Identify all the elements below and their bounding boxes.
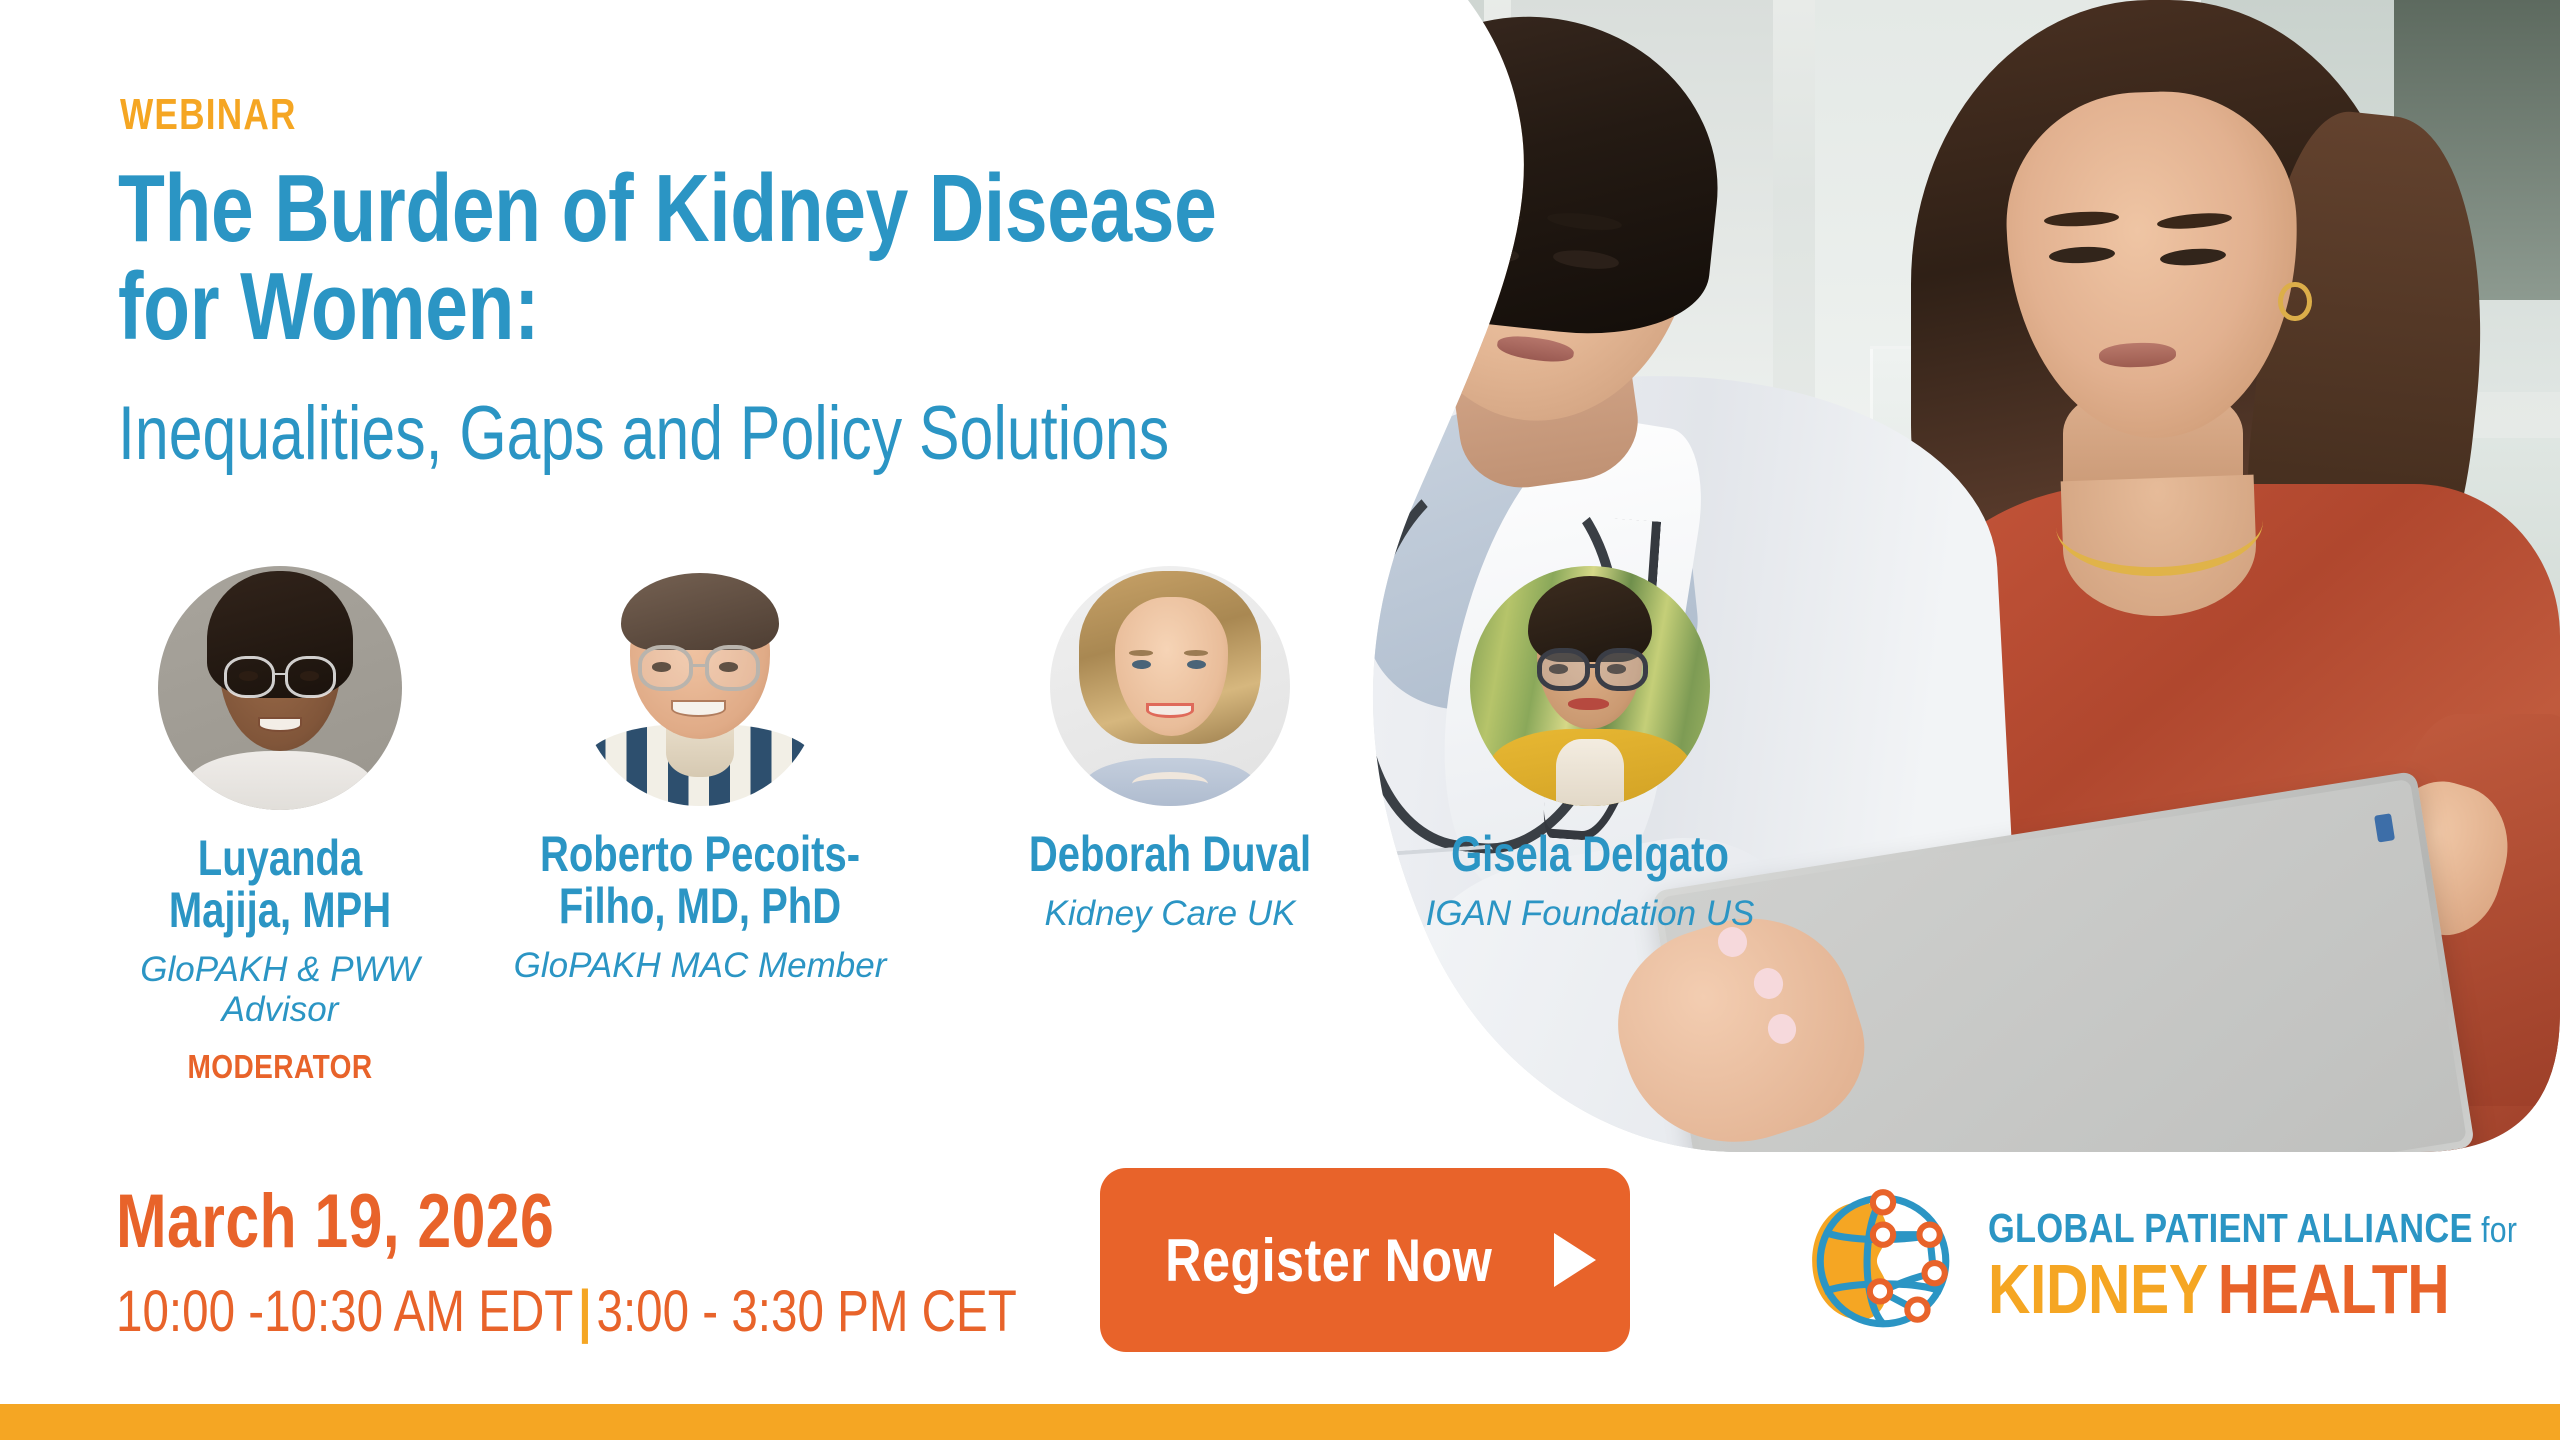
- logo-line-1: GLOBAL PATIENT ALLIANCEfor: [1988, 1205, 2517, 1252]
- speakers-row: Luyanda Majija, MPH GloPAKH & PWW Adviso…: [80, 566, 1800, 1086]
- avatar: [1470, 566, 1710, 806]
- logo-line-1-main: GLOBAL PATIENT ALLIANCE: [1988, 1205, 2473, 1251]
- speaker-name: Gisela Delgato: [1430, 828, 1750, 880]
- patient-earring: [2278, 282, 2311, 321]
- webinar-promo-poster: WEBINAR The Burden of Kidney Disease for…: [0, 0, 2560, 1440]
- bottom-accent-bar: [0, 1404, 2560, 1440]
- speaker-role: GloPAKH & PWW Advisor: [100, 950, 460, 1030]
- logo-health-word: HEALTH: [2218, 1250, 2450, 1328]
- doctor-ponytail: [1300, 141, 1474, 458]
- speaker-card: Roberto Pecoits-Filho, MD, PhD GloPAKH M…: [465, 566, 935, 986]
- glasses-bridge: [693, 664, 705, 667]
- avatar: [158, 566, 402, 810]
- event-time: 10:00 -10:30 AM EDT|3:00 - 3:30 PM CET: [116, 1278, 1017, 1345]
- glasses-icon: [638, 645, 693, 691]
- avatar-eyebrow-left: [1129, 650, 1153, 656]
- speaker-role: IGAN Foundation US: [1390, 894, 1790, 934]
- logo-line-1-suffix: for: [2481, 1209, 2517, 1250]
- speaker-name: Deborah Duval: [1010, 828, 1330, 880]
- logo-kidney-word: KIDNEY: [1988, 1250, 2208, 1328]
- avatar-shoulders: [187, 751, 372, 810]
- register-now-button[interactable]: Register Now: [1100, 1168, 1630, 1352]
- kidney-globe-network-logo-icon: [1800, 1180, 1962, 1342]
- event-date: March 19, 2026: [116, 1178, 554, 1265]
- glasses-bridge: [1588, 664, 1598, 668]
- glasses-icon: [224, 656, 275, 697]
- eyebrow-label: WEBINAR: [120, 90, 297, 140]
- speaker-name: Roberto Pecoits-Filho, MD, PhD: [512, 828, 888, 932]
- glasses-bridge: [275, 673, 285, 675]
- play-triangle-icon: [1554, 1233, 1596, 1287]
- avatar-eyebrow-right: [1184, 650, 1208, 656]
- speaker-card: Gisela Delgato IGAN Foundation US: [1390, 566, 1790, 934]
- speaker-card: Deborah Duval Kidney Care UK: [970, 566, 1370, 934]
- avatar-eye-left: [1132, 660, 1151, 670]
- speaker-role: GloPAKH MAC Member: [465, 946, 935, 986]
- organization-logo[interactable]: GLOBAL PATIENT ALLIANCEfor KIDNEYHEALTH: [1800, 1168, 2460, 1354]
- glasses-icon: [285, 656, 336, 697]
- speaker-card: Luyanda Majija, MPH GloPAKH & PWW Adviso…: [100, 566, 460, 1086]
- page-title: The Burden of Kidney Disease for Women:: [118, 160, 1238, 356]
- avatar-inner-shirt: [1556, 739, 1623, 806]
- glasses-icon: [1595, 648, 1648, 691]
- glasses-icon: [705, 645, 760, 691]
- avatar-smile: [258, 717, 302, 732]
- event-time-cet: 3:00 - 3:30 PM CET: [597, 1279, 1017, 1344]
- time-separator: |: [573, 1279, 596, 1344]
- moderator-badge: MODERATOR: [127, 1048, 433, 1086]
- avatar-pearl-necklace: [1132, 772, 1209, 796]
- tablet-camera-icon: [2374, 814, 2395, 843]
- event-time-edt: 10:00 -10:30 AM EDT: [116, 1279, 573, 1344]
- logo-wordmark: GLOBAL PATIENT ALLIANCEfor KIDNEYHEALTH: [1988, 1199, 2560, 1324]
- page-subtitle: Inequalities, Gaps and Policy Solutions: [118, 392, 1318, 476]
- register-now-label: Register Now: [1165, 1226, 1492, 1295]
- speaker-role: Kidney Care UK: [970, 894, 1370, 934]
- avatar: [1050, 566, 1290, 806]
- doctor-eyebrow-left: [1445, 208, 1523, 227]
- avatar-eye-right: [1187, 660, 1206, 670]
- speaker-name: Luyanda Majija, MPH: [136, 832, 424, 936]
- avatar-lips: [1568, 698, 1609, 710]
- avatar: [580, 566, 820, 806]
- glasses-icon: [1537, 648, 1590, 691]
- logo-line-2: KIDNEYHEALTH: [1988, 1254, 2517, 1324]
